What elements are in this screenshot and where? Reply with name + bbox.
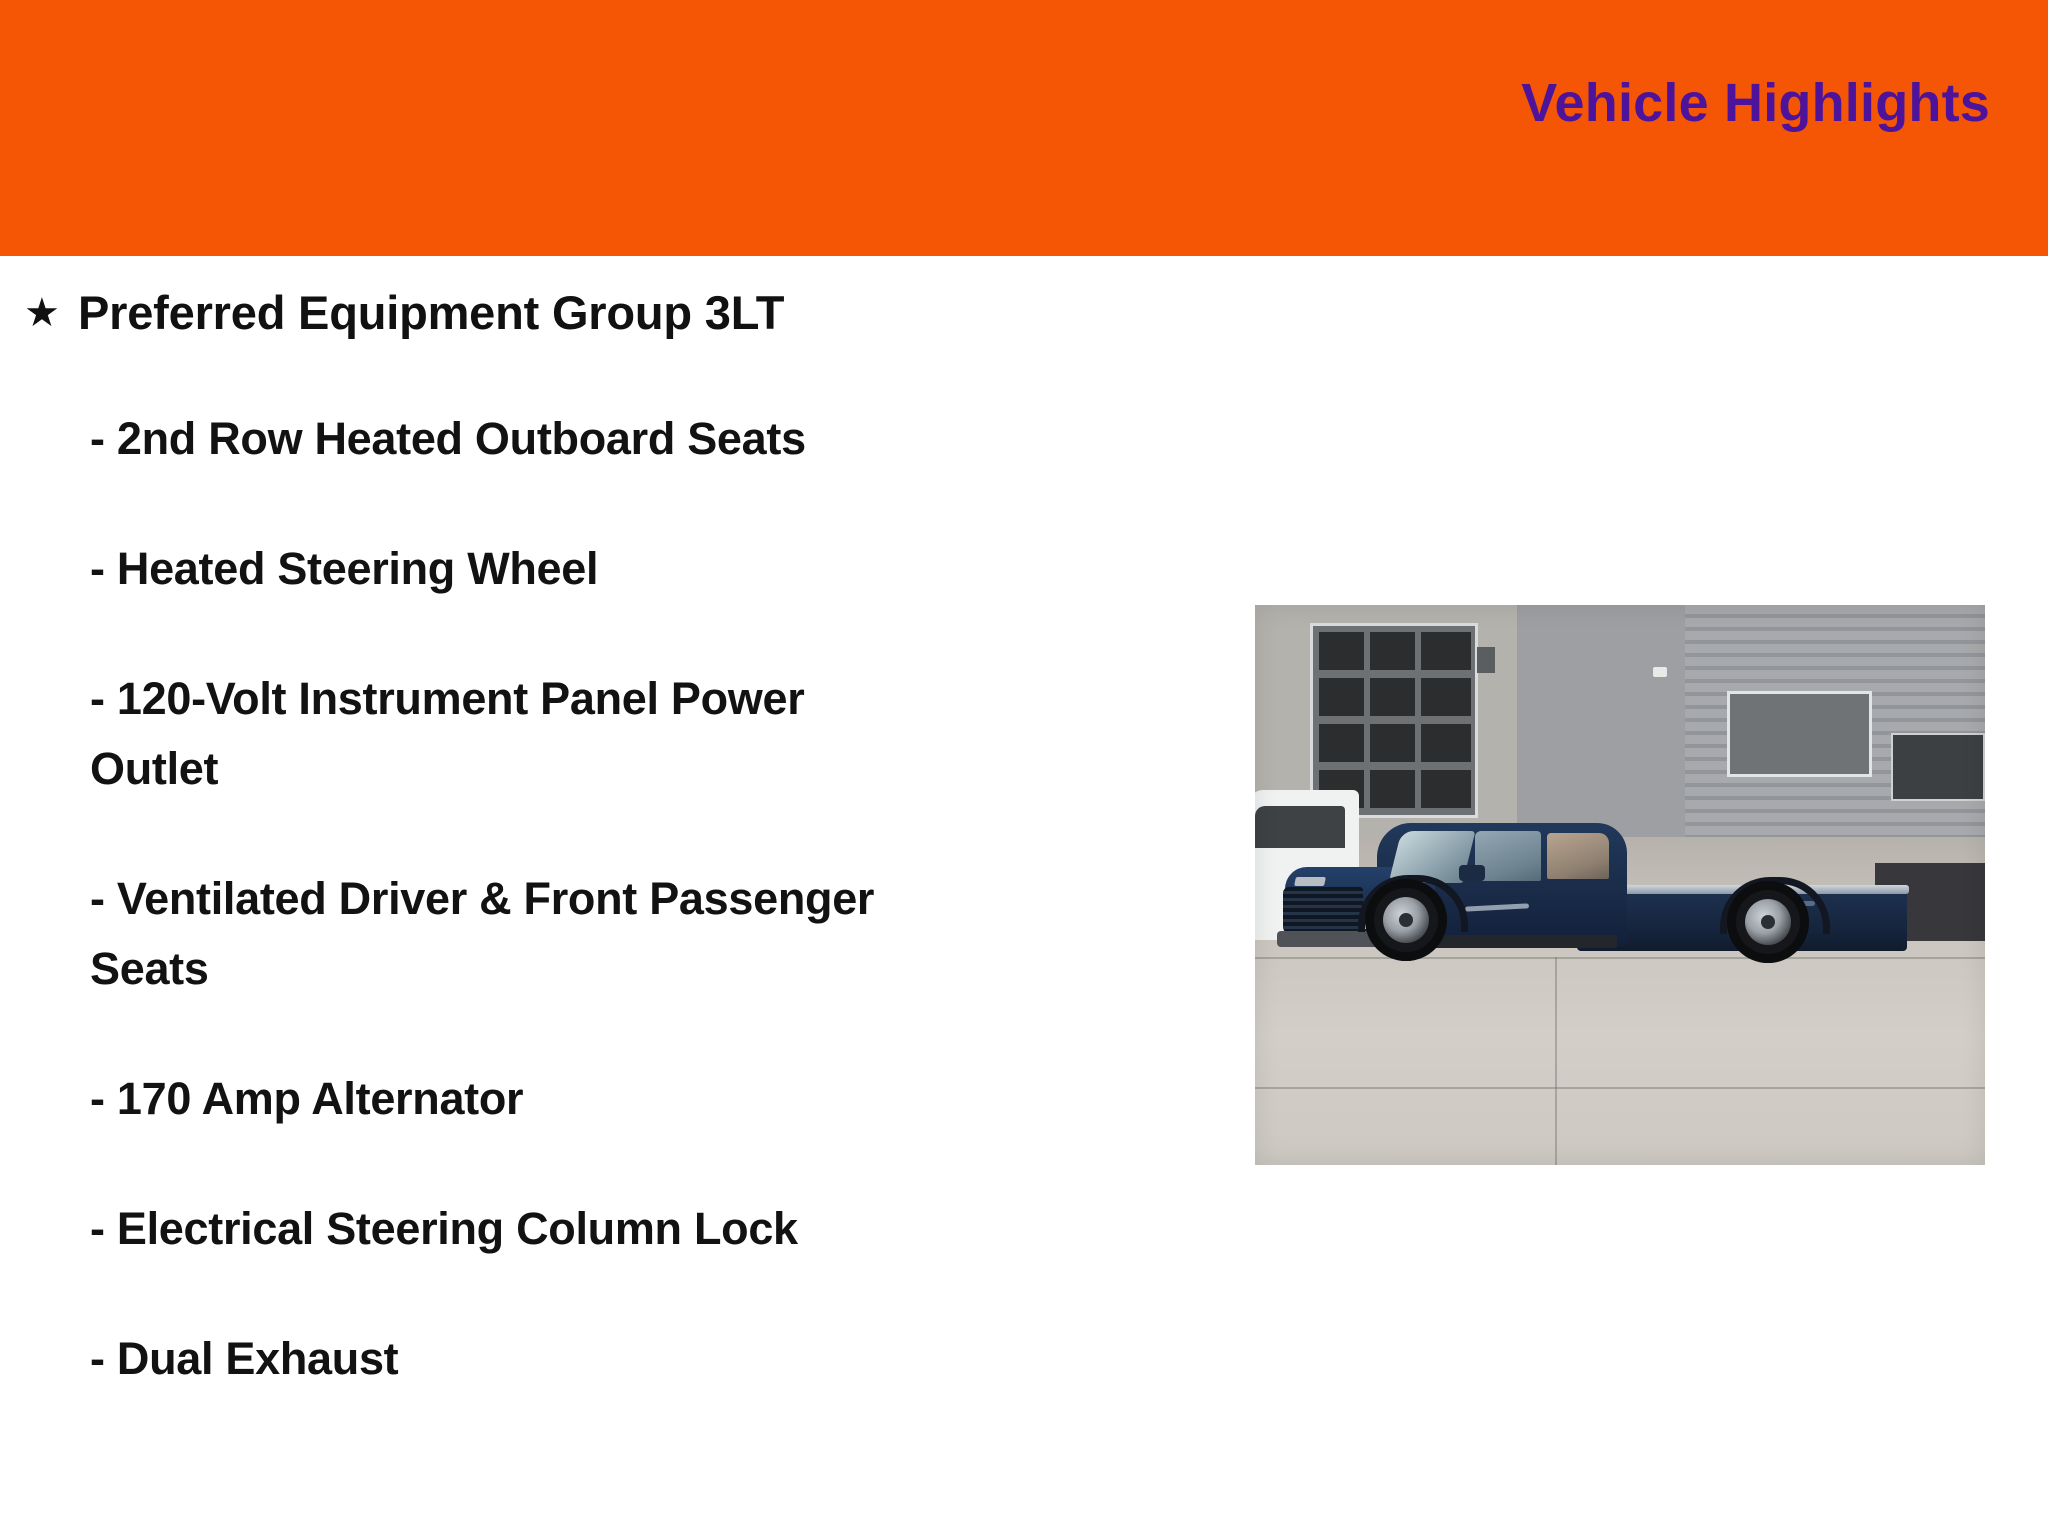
truck-grille [1283,887,1363,933]
truck-rear-wheel [1727,881,1809,963]
list-item: - Electrical Steering Column Lock [0,1194,1160,1264]
truck-rear-rim [1745,899,1791,945]
page-title: Vehicle Highlights [1521,72,1990,134]
building-window [1727,691,1872,777]
header-band: Vehicle Highlights [0,0,2048,256]
highlights-list: ★ Preferred Equipment Group 3LT - 2nd Ro… [0,256,1160,1454]
star-icon: ★ [24,284,78,342]
slide-content: ★ Preferred Equipment Group 3LT - 2nd Ro… [0,256,2048,1536]
list-item: - 2nd Row Heated Outboard Seats [0,404,1160,474]
list-item-main-label: Preferred Equipment Group 3LT [78,284,784,342]
chevrolet-bowtie-icon [1294,877,1326,886]
list-item-main: ★ Preferred Equipment Group 3LT [0,284,1160,342]
truck-front-wheel [1365,879,1447,961]
list-item: - Ventilated Driver & Front Passenger Se… [0,864,1160,1004]
garage-door [1310,623,1478,818]
list-item: - 120-Volt Instrument Panel Power Outlet [0,664,1160,804]
pickup-truck [1277,801,1927,961]
truck-side-mirror [1459,865,1485,881]
list-item: - 170 Amp Alternator [0,1064,1160,1134]
list-item: - Dual Exhaust [0,1324,1160,1394]
truck-rear-door-window [1547,833,1609,879]
vehicle-photo [1255,605,1985,1165]
wall-junction-box [1477,647,1495,673]
list-item: - Heated Steering Wheel [0,534,1160,604]
vehicle-photo-canvas [1255,605,1985,1165]
building-window-secondary [1891,733,1985,801]
truck-front-rim [1383,897,1429,943]
wall-light-icon [1653,667,1667,677]
